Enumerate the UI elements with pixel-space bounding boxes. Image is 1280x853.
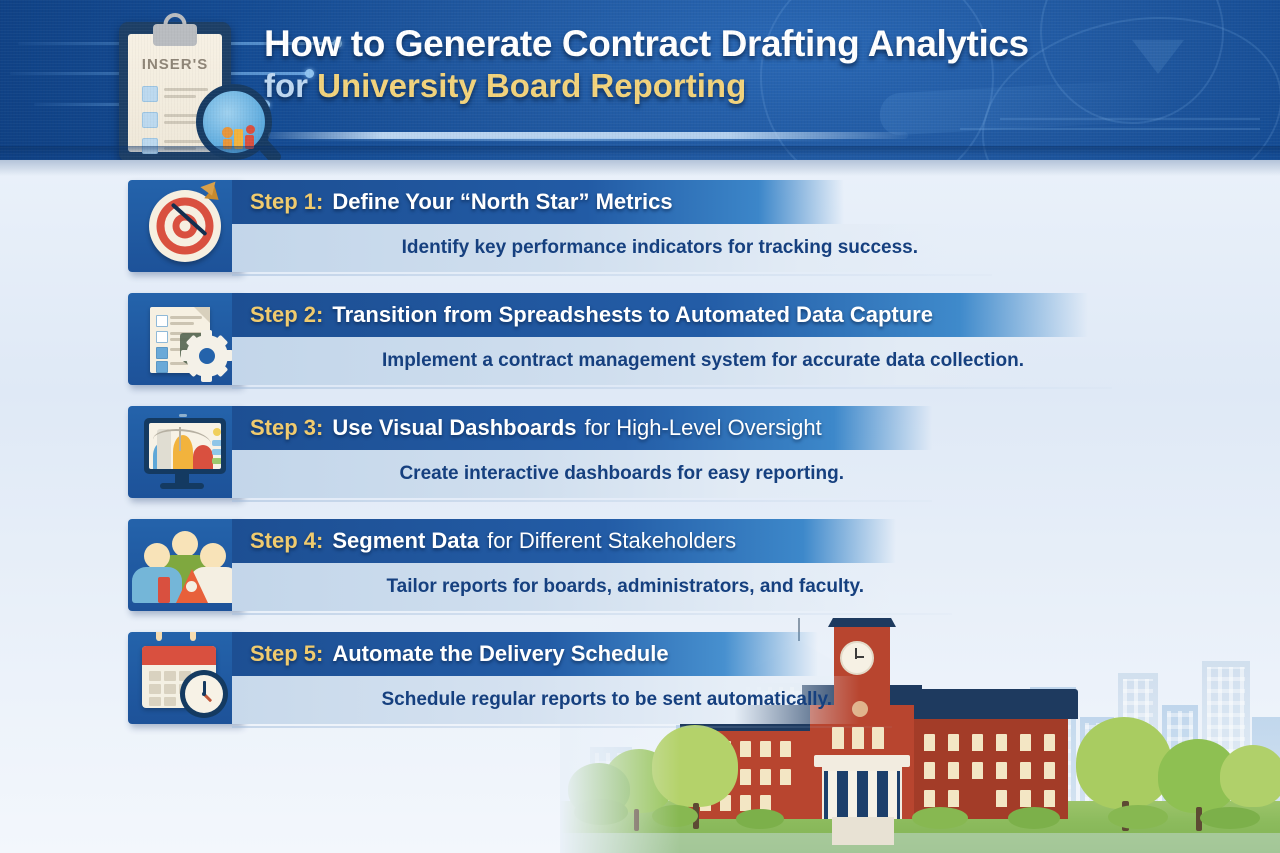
title-highlight: University Board Reporting xyxy=(317,67,746,104)
bush xyxy=(912,807,968,829)
step-number: Step 2: xyxy=(250,302,323,327)
step-number: Step 1: xyxy=(250,189,323,214)
step-description-band: Create interactive dashboards for easy r… xyxy=(232,450,872,498)
step-number: Step 5: xyxy=(250,641,323,666)
header-base-shade xyxy=(0,146,1280,160)
bush xyxy=(736,809,784,829)
step-description: Implement a contract management system f… xyxy=(382,350,1024,372)
step-title-bold: Define Your “North Star” Metrics xyxy=(332,189,672,214)
step-title-bar[interactable]: Step 5:Automate the Delivery Schedule xyxy=(232,632,818,676)
step-title-bar[interactable]: Step 1:Define Your “North Star” Metrics xyxy=(232,180,844,224)
bush xyxy=(1008,807,1060,829)
steps-list: Step 1:Define Your “North Star” Metrics … xyxy=(0,176,1280,741)
step-title-bar[interactable]: Step 3:Use Visual Dashboardsfor High-Lev… xyxy=(232,406,932,450)
target-bullseye-icon xyxy=(128,180,242,272)
step-description: Identify key performance indicators for … xyxy=(402,237,918,259)
page-title: How to Generate Contract Drafting Analyt… xyxy=(264,24,1264,104)
clipboard-label: INSER'S xyxy=(128,56,222,73)
step-row: Step 3:Use Visual Dashboardsfor High-Lev… xyxy=(0,402,1280,498)
step-title-bold: Segment Data xyxy=(332,528,479,553)
decorative-line xyxy=(960,128,1260,130)
header-banner: INSER'S How to Generate Co xyxy=(0,0,1280,160)
step-title-bar[interactable]: Step 4:Segment Datafor Different Stakeho… xyxy=(232,519,896,563)
step-description: Tailor reports for boards, administrator… xyxy=(386,576,864,598)
monitor-dashboard-icon xyxy=(128,406,242,498)
step-description: Schedule regular reports to be sent auto… xyxy=(382,689,833,711)
step-row: Step 2:Transition from Spreadshests to A… xyxy=(0,289,1280,385)
step-description: Create interactive dashboards for easy r… xyxy=(399,463,844,485)
bush xyxy=(1200,807,1260,829)
people-group-icon xyxy=(128,519,242,611)
decorative-line xyxy=(1000,118,1260,120)
title-for-word: for xyxy=(264,67,317,104)
step-row: Step 5:Automate the Delivery Schedule Sc… xyxy=(0,628,1280,724)
step-title-bold: Automate the Delivery Schedule xyxy=(332,641,668,666)
step-row: Step 4:Segment Datafor Different Stakeho… xyxy=(0,515,1280,611)
step-title-normal: for Different Stakeholders xyxy=(487,528,736,553)
title-underline-rule xyxy=(268,132,908,139)
title-line-1: How to Generate Contract Drafting Analyt… xyxy=(264,24,1264,64)
step-number: Step 3: xyxy=(250,415,323,440)
step-number: Step 4: xyxy=(250,528,323,553)
title-line-2: for University Board Reporting xyxy=(264,68,1264,104)
step-description-band: Identify key performance indicators for … xyxy=(232,224,946,272)
step-description-band: Tailor reports for boards, administrator… xyxy=(232,563,892,611)
tree xyxy=(1220,745,1280,807)
infographic-poster: INSER'S How to Generate Co xyxy=(0,0,1280,853)
step-row: Step 1:Define Your “North Star” Metrics … xyxy=(0,176,1280,272)
step-title-bold: Use Visual Dashboards xyxy=(332,415,576,440)
header-dropshadow xyxy=(0,160,1280,176)
step-title-normal: for High-Level Oversight xyxy=(585,415,822,440)
step-description-band: Implement a contract management system f… xyxy=(232,337,1052,385)
step-title-bold: Transition from Spreadshests to Automate… xyxy=(332,302,933,327)
calendar-clock-icon xyxy=(128,632,242,724)
bush xyxy=(1108,805,1168,829)
step-title-bar[interactable]: Step 2:Transition from Spreadshests to A… xyxy=(232,293,1088,337)
step-description-band: Schedule regular reports to be sent auto… xyxy=(232,676,860,724)
document-gear-icon xyxy=(128,293,242,385)
